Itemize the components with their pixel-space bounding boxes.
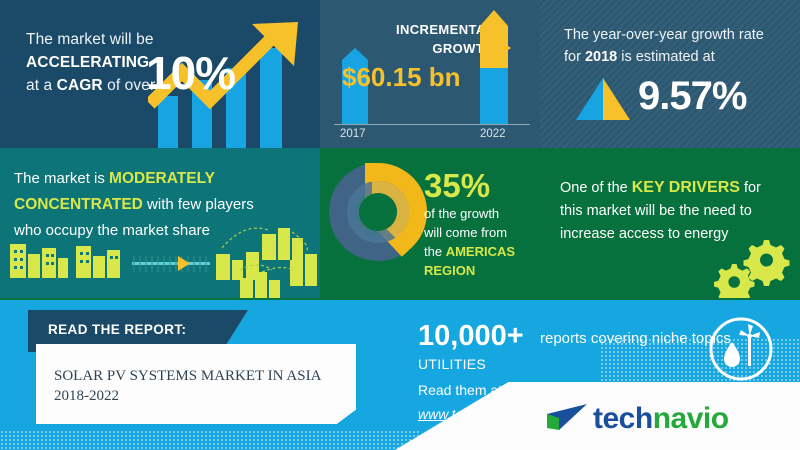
driver-text-1: One of the: [560, 180, 632, 196]
incremental-growth-value: $60.15 bn: [342, 62, 461, 93]
report-title: SOLAR PV SYSTEMS MARKET IN ASIA 2018-202…: [54, 366, 344, 406]
panel-market-concentration: The market is MODERATELY CONCENTRATED wi…: [0, 148, 320, 300]
donut-caption: 35% of the growth will come from the AME…: [424, 168, 536, 280]
yoy-text-3: is estimated at: [617, 49, 715, 65]
donut-text-3: the: [424, 244, 446, 259]
conc-text-2: with few players: [143, 196, 254, 213]
cagr-value: 10%: [146, 50, 235, 96]
yoy-text-bold: 2018: [585, 49, 617, 65]
panel-incremental-growth: INCREMENTAL GROWTH $60.15 bn 2017 2022: [320, 0, 540, 148]
panel-cagr: The market will be ACCELERATING at a CAG…: [0, 0, 320, 148]
panel-footer: READ THE REPORT: SOLAR PV SYSTEMS MARKET…: [0, 300, 800, 450]
technavio-arrow-logo-icon: [545, 402, 591, 436]
axis-tick-2017: 2017: [340, 128, 366, 140]
panel-key-drivers: One of the KEY DRIVERS for this market w…: [540, 148, 800, 300]
yoy-text-2: for: [564, 49, 585, 65]
cagr-text-bold-1: ACCELERATING: [26, 54, 149, 71]
donut-text-bold-2: REGION: [424, 263, 475, 278]
yoy-statement: The year-over-year growth rate for 2018 …: [564, 24, 784, 68]
technavio-wordmark: technavio: [593, 402, 729, 436]
incremental-axis-line: [334, 124, 530, 125]
axis-tick-2022: 2022: [480, 128, 506, 140]
donut-text-bold-1: AMERICAS: [446, 244, 515, 259]
triangle-up-icon: [572, 74, 636, 124]
donut-value: 35%: [424, 168, 536, 204]
donut-chart-icon: [328, 162, 428, 262]
driver-text-2: for: [740, 180, 761, 196]
driver-text-bold: KEY DRIVERS: [632, 179, 740, 196]
yoy-value: 9.57%: [638, 74, 746, 119]
cagr-text-2: at a: [26, 77, 57, 94]
read-the-report-label: READ THE REPORT:: [48, 322, 186, 337]
report-title-card[interactable]: SOLAR PV SYSTEMS MARKET IN ASIA 2018-202…: [36, 344, 356, 424]
reports-count: 10,000+: [418, 320, 524, 353]
panel-region-share: 35% of the growth will come from the AME…: [320, 148, 540, 300]
cagr-text-1: The market will be: [26, 31, 154, 48]
conc-text-1: The market is: [14, 170, 109, 187]
driver-text-3: this market will be the need to: [560, 203, 752, 219]
city-buildings-icon: [0, 226, 320, 300]
infographic-canvas: The market will be ACCELERATING at a CAG…: [0, 0, 800, 450]
dot-texture-left: [0, 430, 420, 450]
logo-text-navio: navio: [653, 402, 729, 435]
driver-text-4: increase access to energy: [560, 226, 728, 242]
donut-text-2: will come from: [424, 225, 507, 240]
gears-icon: [708, 236, 794, 300]
wind-turbine-water-drop-icon: [708, 316, 774, 382]
reports-description: reports covering niche topics: [540, 330, 731, 347]
conc-text-bold-2: CONCENTRATED: [14, 196, 143, 213]
panel-yoy-growth: The year-over-year growth rate for 2018 …: [540, 0, 800, 148]
donut-text-1: of the growth: [424, 206, 499, 221]
report-category: UTILITIES: [418, 356, 486, 372]
yoy-text-1: The year-over-year growth rate: [564, 27, 764, 43]
conc-text-bold-1: MODERATELY: [109, 170, 215, 187]
logo-text-tech: tech: [593, 402, 653, 435]
cagr-text-bold-2: CAGR: [57, 77, 103, 94]
